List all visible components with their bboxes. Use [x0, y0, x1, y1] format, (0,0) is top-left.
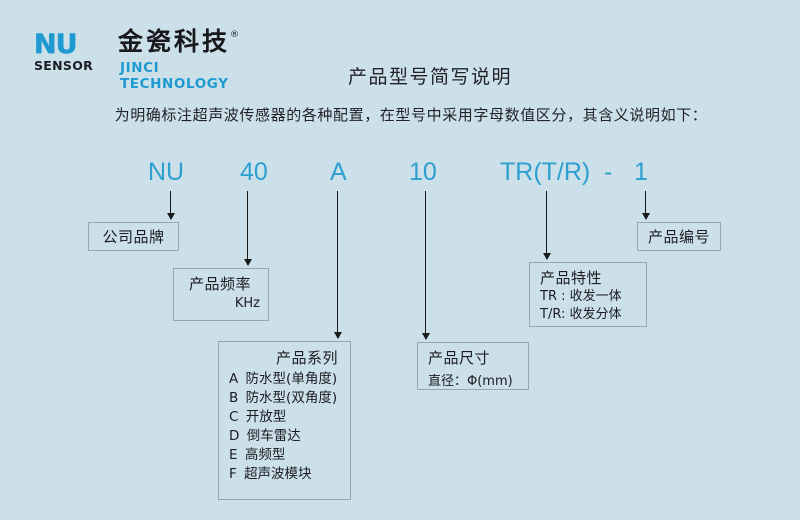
- label-box-feature-line1: TR : 收发一体: [540, 288, 646, 306]
- logo-company-name-cn: 金瓷科技: [118, 28, 230, 56]
- code-segment-frequency: 40: [240, 158, 268, 187]
- series-item: A 防水型(单角度): [229, 370, 344, 389]
- label-box-series: 产品系列 A 防水型(单角度) B 防水型(双角度) C 开放型 D 倒车雷达 …: [218, 341, 351, 500]
- series-item-key: F: [229, 466, 237, 482]
- label-box-brand: 公司品牌: [88, 222, 179, 251]
- label-box-frequency-unit: KHz: [180, 296, 260, 311]
- diagram-canvas: NU SENSOR 金瓷科技 ® JINCI TECHNOLOGY 产品型号简写…: [0, 0, 800, 520]
- series-item: C 开放型: [229, 408, 344, 427]
- series-item-key: D: [229, 428, 239, 444]
- label-box-series-title: 产品系列: [229, 347, 344, 368]
- code-segment-feature: TR(T/R): [500, 158, 590, 187]
- code-segment-brand: NU: [148, 158, 184, 187]
- arrow-to-number: [645, 191, 646, 219]
- series-item-label: 超声波模块: [244, 466, 312, 482]
- arrow-to-series: [337, 191, 338, 338]
- series-item: B 防水型(双角度): [229, 389, 344, 408]
- series-item-label: 防水型(单角度): [246, 371, 338, 387]
- series-item: F 超声波模块: [229, 465, 344, 484]
- label-box-feature-title: 产品特性: [540, 267, 646, 288]
- series-item-label: 高频型: [245, 447, 286, 463]
- label-box-frequency-title: 产品频率: [180, 273, 260, 294]
- series-item-label: 防水型(双角度): [246, 390, 338, 406]
- arrow-to-frequency: [247, 191, 248, 265]
- arrow-to-size: [425, 191, 426, 339]
- series-item: E 高频型: [229, 446, 344, 465]
- label-box-feature-line2: T/R: 收发分体: [540, 306, 646, 324]
- series-item-label: 倒车雷达: [247, 428, 301, 444]
- label-box-number: 产品编号: [637, 222, 721, 251]
- code-segment-separator: -: [604, 158, 612, 187]
- page-title: 产品型号简写说明: [0, 62, 800, 89]
- arrow-to-brand: [170, 191, 171, 219]
- code-segment-series: A: [330, 158, 347, 187]
- code-segment-number: 1: [634, 158, 648, 187]
- label-box-number-title: 产品编号: [648, 226, 710, 247]
- label-box-brand-title: 公司品牌: [102, 226, 164, 247]
- page-subtitle: 为明确标注超声波传感器的各种配置，在型号中采用字母数值区分，其含义说明如下：: [0, 104, 800, 125]
- series-item-key: B: [229, 390, 238, 406]
- label-box-size: 产品尺寸 直径：Φ(mm): [417, 342, 529, 390]
- label-box-frequency: 产品频率 KHz: [173, 268, 269, 321]
- arrow-to-feature: [546, 191, 547, 259]
- series-item-key: A: [229, 371, 238, 387]
- series-item: D 倒车雷达: [229, 427, 344, 446]
- series-item-key: E: [229, 447, 238, 463]
- label-box-size-detail: 直径：Φ(mm): [428, 370, 528, 389]
- series-item-key: C: [229, 409, 238, 425]
- registered-trademark-icon: ®: [230, 30, 239, 40]
- label-box-size-title: 产品尺寸: [428, 347, 528, 368]
- code-segment-size: 10: [409, 158, 437, 187]
- series-item-label: 开放型: [246, 409, 287, 425]
- label-box-feature: 产品特性 TR : 收发一体 T/R: 收发分体: [529, 262, 647, 327]
- logo-mark-text: NU: [34, 32, 126, 58]
